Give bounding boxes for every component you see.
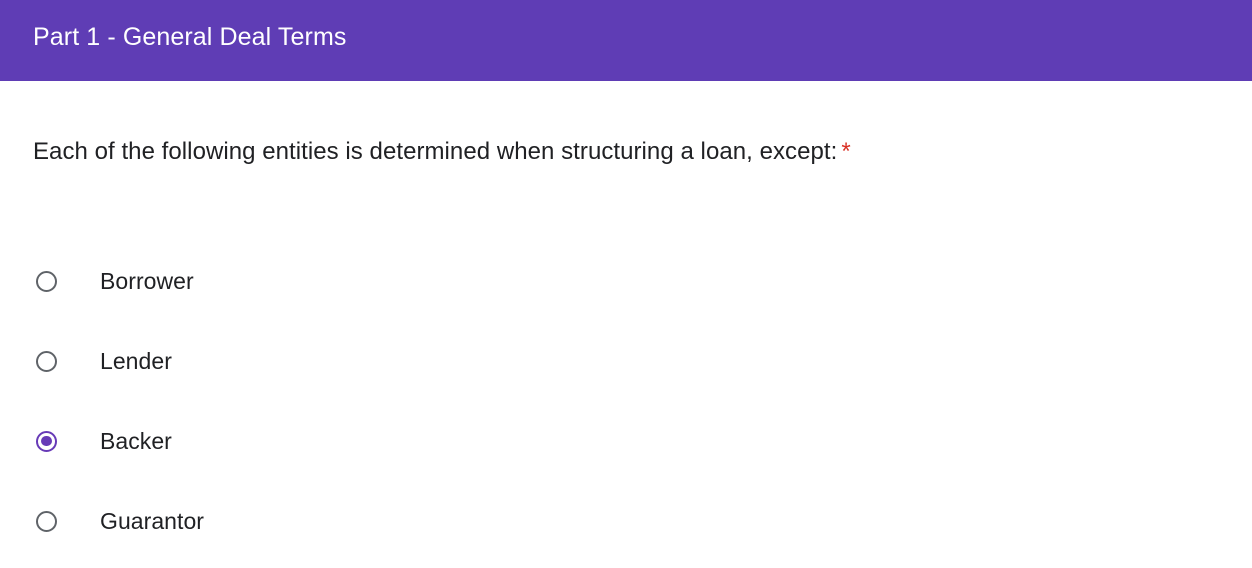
section-header: Part 1 - General Deal Terms — [0, 0, 1252, 81]
radio-group: Borrower Lender Backer Guarantor — [0, 241, 1252, 561]
form-page: Part 1 - General Deal Terms Each of the … — [0, 0, 1252, 568]
radio-circle-icon[interactable] — [36, 511, 57, 532]
radio-option-label: Guarantor — [100, 506, 204, 536]
radio-option-backer[interactable]: Backer — [0, 401, 1252, 481]
radio-dot-icon — [41, 436, 52, 447]
radio-circle-icon[interactable] — [36, 351, 57, 372]
radio-circle-icon[interactable] — [36, 271, 57, 292]
question-text: Each of the following entities is determ… — [33, 138, 837, 165]
question-title: Each of the following entities is determ… — [33, 136, 851, 168]
required-asterisk: * — [841, 138, 850, 165]
radio-option-borrower[interactable]: Borrower — [0, 241, 1252, 321]
radio-option-lender[interactable]: Lender — [0, 321, 1252, 401]
radio-option-label: Backer — [100, 426, 172, 456]
radio-option-label: Lender — [100, 346, 172, 376]
radio-option-label: Borrower — [100, 266, 194, 296]
radio-option-guarantor[interactable]: Guarantor — [0, 481, 1252, 561]
radio-circle-icon[interactable] — [36, 431, 57, 452]
section-title: Part 1 - General Deal Terms — [33, 20, 346, 54]
